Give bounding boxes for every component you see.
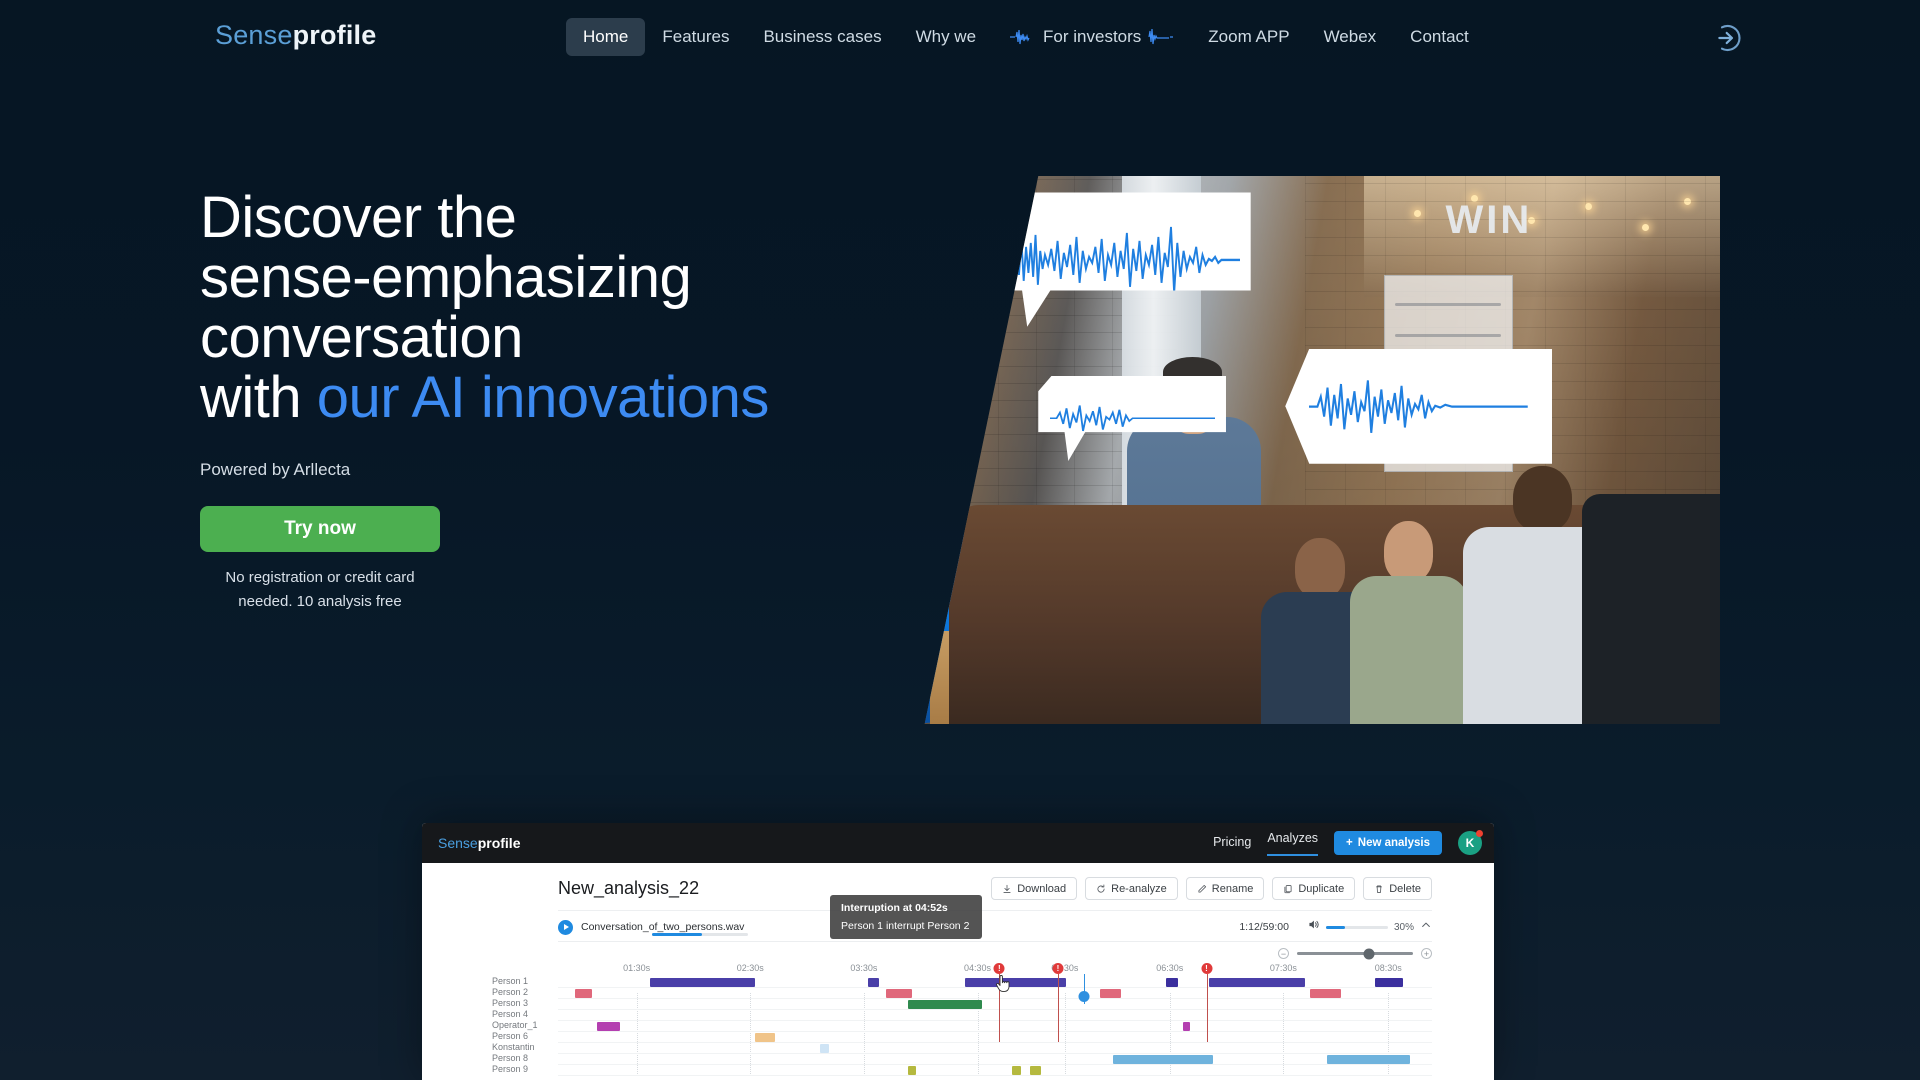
audio-file-name: Conversation_of_two_persons.wav [581,921,744,933]
hero-line-2: sense-emphasizing [200,245,691,310]
timeline-rows: Person 1Person 2Person 3Person 4Operator… [558,977,1432,1076]
nav-item-webex[interactable]: Webex [1307,18,1394,56]
timeline-row[interactable]: Person 8 [558,1054,1432,1065]
interruption-line [1207,974,1208,1042]
timeline-tick: 04:30s [964,963,991,973]
app-nav-analyzes[interactable]: Analyzes [1267,831,1318,856]
nav-label: For investors [1043,27,1141,47]
hero-line-3: conversation [200,305,523,370]
hero-line-1: Discover the [200,185,516,250]
login-arrow-circle-icon[interactable] [1710,22,1742,54]
tooltip-subtitle: Person 1 interrupt Person 2 [841,920,971,932]
new-analysis-button[interactable]: + New analysis [1334,831,1442,855]
zoom-slider-handle[interactable] [1363,948,1374,959]
nav-label: Features [662,27,729,47]
app-logo[interactable]: Senseprofile [438,835,520,851]
zoom-in-icon[interactable]: + [1421,948,1432,959]
site-logo[interactable]: Senseprofile [215,20,376,51]
speech-segment[interactable] [1310,989,1341,998]
pencil-icon [1197,884,1207,894]
nav-item-contact[interactable]: Contact [1393,18,1486,56]
notification-dot [1476,830,1483,837]
tooltip-title: Interruption at 04:52s [841,902,971,914]
powered-by-label: Powered by Arllecta [200,460,820,480]
reanalyze-button[interactable]: Re-analyze [1085,877,1178,900]
speech-segment[interactable] [965,978,1066,987]
speech-segment[interactable] [1030,1066,1041,1075]
nav-item-why-we[interactable]: Why we [899,18,993,56]
app-preview-card: Senseprofile Pricing Analyzes + New anal… [422,823,1494,1080]
avatar-initial: K [1466,836,1475,850]
speech-segment[interactable] [1166,978,1177,987]
speaker-label: Person 4 [492,1009,528,1019]
timeline-tick: 06:30s [1156,963,1183,973]
timeline-zoom-control: − + [558,942,1432,961]
nav-label: Why we [916,27,976,47]
avatar[interactable]: K [1458,831,1482,855]
waveform-icon [1148,29,1174,45]
audience-chair [1582,494,1720,724]
analysis-title: New_analysis_22 [558,878,699,899]
rename-button[interactable]: Rename [1186,877,1265,900]
chevron-up-icon[interactable] [1420,918,1432,936]
speech-segment[interactable] [1327,1055,1410,1064]
interruption-marker[interactable]: ! [1201,963,1212,974]
landing-page: Senseprofile Home Features Business case… [0,0,1920,1080]
app-logo-prefix: Sense [438,835,478,851]
timecode-label: 1:12/59:00 [1239,921,1289,933]
speech-segment[interactable] [886,989,912,998]
audience-body [1350,576,1469,724]
logo-prefix: Sense [215,20,293,50]
timeline-row[interactable]: Person 4 [558,1010,1432,1021]
speech-segment[interactable] [908,1066,917,1075]
audience-head [1384,521,1433,581]
nav-label: Webex [1324,27,1377,47]
nav-label: Contact [1410,27,1469,47]
nav-item-zoom-app[interactable]: Zoom APP [1191,18,1306,56]
duplicate-label: Duplicate [1298,883,1344,895]
app-nav-pricing[interactable]: Pricing [1213,835,1251,851]
cta-note: No registration or credit card needed. 1… [200,566,440,614]
app-header: Senseprofile Pricing Analyzes + New anal… [422,823,1494,863]
speech-segment[interactable] [1183,1022,1190,1031]
player-controls-row: Conversation_of_two_persons.wav 1:12/59:… [558,911,1432,942]
interruption-marker[interactable] [1079,991,1090,1002]
duplicate-button[interactable]: Duplicate [1272,877,1355,900]
speaker-label: Person 1 [492,976,528,986]
rename-label: Rename [1212,883,1254,895]
speech-segment[interactable] [650,978,755,987]
speaker-label: Konstantin [492,1042,535,1052]
volume-slider[interactable] [1326,926,1388,929]
speech-segment[interactable] [575,989,592,998]
audience-head [1295,538,1344,598]
speech-segment[interactable] [597,1022,620,1031]
hero-line-4-accent: our AI innovations [317,365,769,430]
download-label: Download [1017,883,1066,895]
zoom-out-icon[interactable]: − [1278,948,1289,959]
timeline-tick: 01:30s [623,963,650,973]
audio-player: Conversation_of_two_persons.wav 1:12/59:… [558,910,1432,961]
waveform-icon [1010,29,1036,45]
audience-head [1513,466,1572,532]
reanalyze-label: Re-analyze [1111,883,1167,895]
speech-segment[interactable] [1375,978,1403,987]
speaker-timeline-chart: 01:30s02:30s03:30s04:30s05:30s06:30s07:3… [558,961,1432,1076]
zoom-slider[interactable] [1297,952,1413,955]
app-logo-suffix: profile [478,835,521,851]
app-body: New_analysis_22 Download Re-analyze [422,863,1494,1080]
nav-item-features[interactable]: Features [645,18,746,56]
app-nav: Pricing Analyzes + New analysis K [1213,831,1482,856]
interruption-marker[interactable]: ! [994,963,1005,974]
timeline-tick: 07:30s [1270,963,1297,973]
hero-line-4-plain: with [200,365,317,430]
nav-item-business-cases[interactable]: Business cases [746,18,898,56]
analysis-actions: Download Re-analyze Rename [991,877,1432,900]
speaker-label: Person 3 [492,998,528,1008]
interruption-marker[interactable]: ! [1052,963,1063,974]
hero-image: WIN [732,176,1720,724]
trash-icon [1374,884,1384,894]
timeline-row[interactable]: Person 9 [558,1065,1432,1076]
logo-suffix: profile [293,20,377,50]
speech-segment[interactable] [908,1000,982,1009]
speech-segment[interactable] [1209,978,1305,987]
interruption-tooltip: Interruption at 04:52s Person 1 interrup… [830,895,982,939]
delete-button[interactable]: Delete [1363,877,1432,900]
page-title: Discover the sense-emphasizing conversat… [200,188,820,428]
nav-item-home[interactable]: Home [566,18,645,56]
timeline-tick: 08:30s [1375,963,1402,973]
nav-label: Home [583,27,628,47]
top-navigation-bar: Senseprofile Home Features Business case… [0,0,1920,76]
speaker-icon[interactable] [1307,918,1320,936]
timeline-row[interactable]: Person 3 [558,999,1432,1010]
refresh-icon [1096,884,1106,894]
speech-segment[interactable] [820,1044,829,1053]
download-icon [1002,884,1012,894]
playback-progress-bar[interactable] [652,933,748,936]
speaker-label: Person 6 [492,1031,528,1041]
try-now-button[interactable]: Try now [200,506,440,552]
win-wall-sign: WIN [1446,198,1533,243]
speech-bubble-waveform-right [1285,349,1552,464]
copy-icon [1283,884,1293,894]
volume-control: 30% [1307,918,1432,936]
download-button[interactable]: Download [991,877,1077,900]
speech-segment[interactable] [1012,1066,1021,1075]
nav-label: Business cases [763,27,881,47]
speaker-label: Person 8 [492,1053,528,1063]
plus-icon: + [1346,837,1353,849]
speech-segment[interactable] [1113,1055,1214,1064]
speech-segment[interactable] [1100,989,1121,998]
timeline-tick: 03:30s [850,963,877,973]
timeline-row[interactable]: Operator_1 [558,1021,1432,1032]
new-analysis-label: New analysis [1358,837,1430,849]
speech-segment[interactable] [755,1033,775,1042]
timeline-row[interactable]: Konstantin [558,1043,1432,1054]
speaker-label: Operator_1 [492,1020,538,1030]
volume-percent-label: 30% [1394,922,1414,933]
timeline-tick: 02:30s [737,963,764,973]
nav-label: Zoom APP [1208,27,1289,47]
nav-item-for-investors[interactable]: For investors [993,18,1191,56]
speaker-label: Person 9 [492,1064,528,1074]
play-icon[interactable] [558,920,573,935]
speaker-label: Person 2 [492,987,528,997]
hero-text-block: Discover the sense-emphasizing conversat… [200,188,820,614]
office-presentation-photo: WIN [732,176,1720,724]
speech-segment[interactable] [868,978,878,987]
mouse-pointer-icon [995,975,1011,998]
interruption-line [1058,974,1059,1042]
timeline-row[interactable]: Person 6 [558,1032,1432,1043]
delete-label: Delete [1389,883,1421,895]
primary-nav: Home Features Business cases Why we For … [566,18,1486,56]
